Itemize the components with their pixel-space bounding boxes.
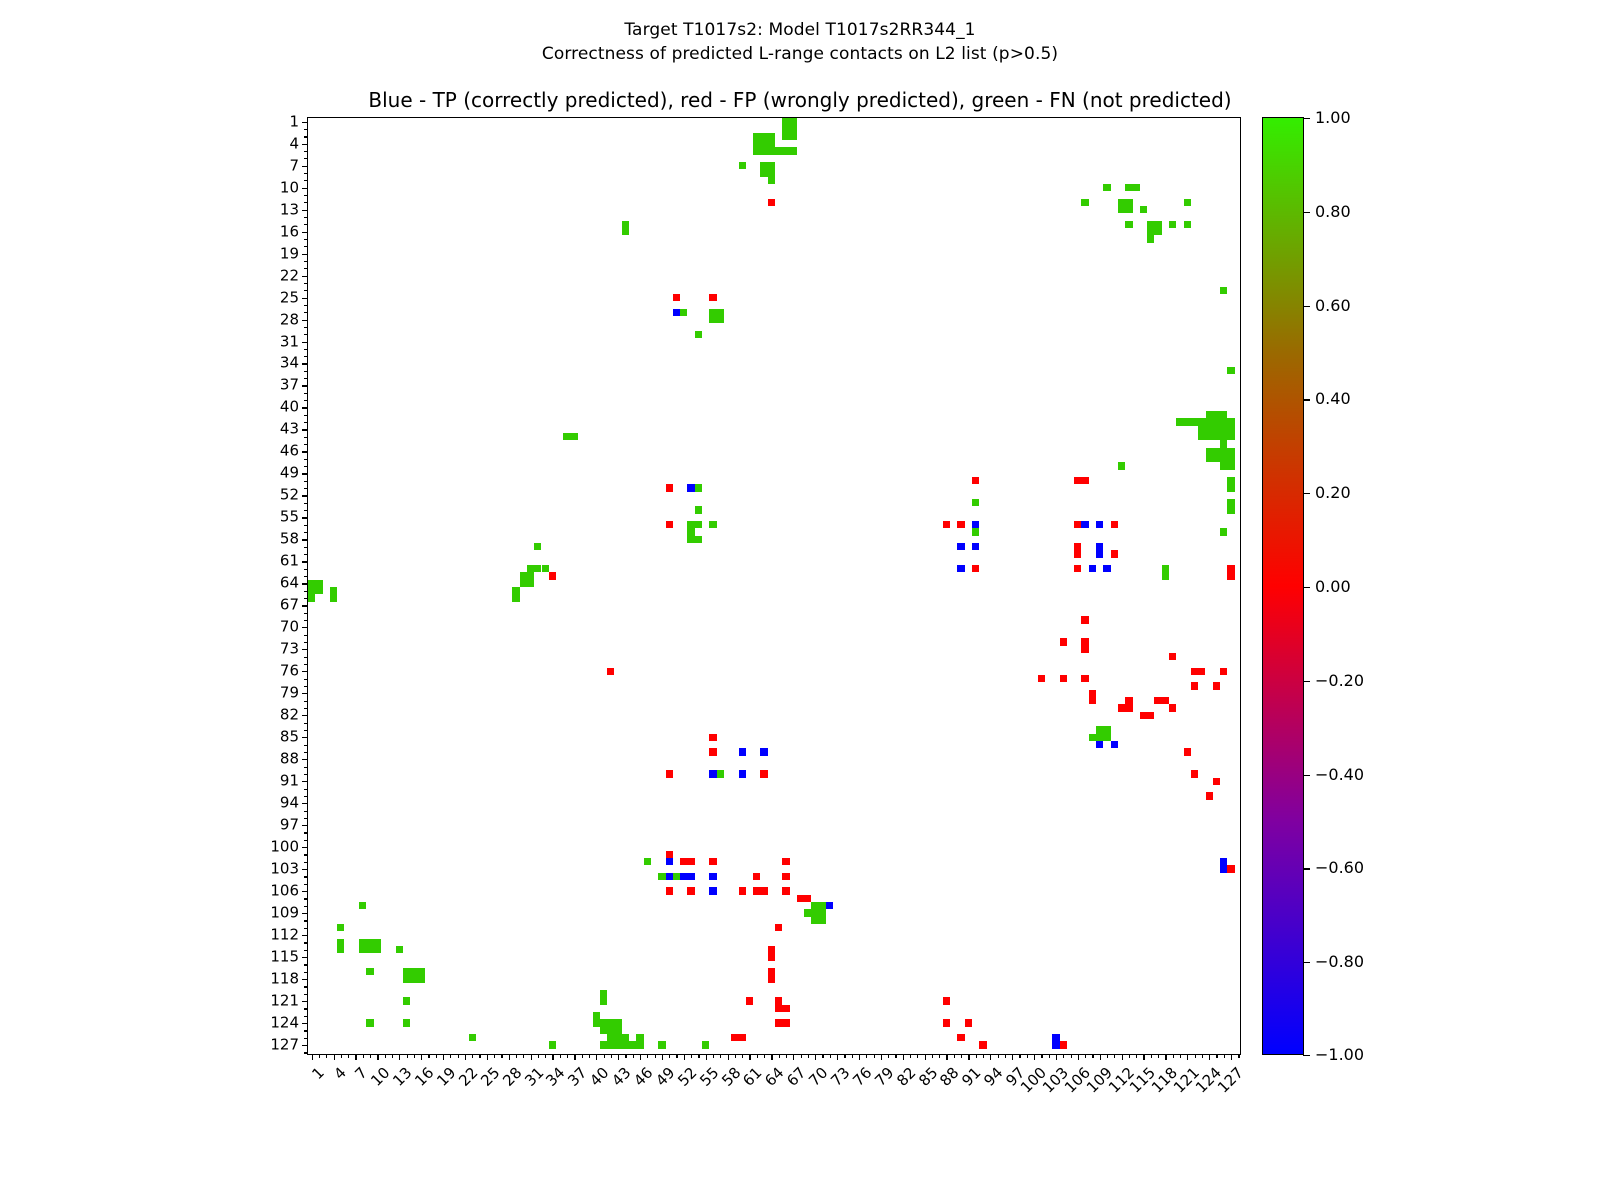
- colorbar-tick-label: 0.60: [1315, 298, 1351, 314]
- contact-cell: [1089, 690, 1096, 705]
- contact-cell: [753, 147, 797, 154]
- x-axis-tick: [1202, 1054, 1203, 1058]
- x-axis-tick: [487, 1054, 488, 1060]
- contact-cell: [709, 294, 716, 301]
- x-axis-tick: [852, 1054, 853, 1058]
- y-axis-tick: [304, 173, 308, 174]
- x-axis-tick: [735, 1054, 736, 1058]
- x-axis-tick: [954, 1054, 955, 1058]
- contact-cell: [943, 1019, 950, 1026]
- x-axis-tick: [582, 1054, 583, 1058]
- x-axis-tick: [749, 1054, 750, 1060]
- contact-cell: [972, 543, 979, 550]
- y-axis-tick-label: 97: [280, 818, 299, 833]
- contact-cell: [1184, 748, 1191, 755]
- y-axis-tick: [304, 789, 308, 790]
- contact-cell: [1125, 697, 1132, 704]
- y-axis-tick: [304, 444, 308, 445]
- contact-cell: [658, 1041, 665, 1048]
- x-axis-tick: [1027, 1054, 1028, 1058]
- colorbar-tick: [1303, 962, 1310, 963]
- contact-cell: [1191, 668, 1206, 675]
- x-axis-tick: [1114, 1054, 1115, 1058]
- y-axis-tick: [302, 627, 308, 628]
- y-axis-tick-label: 43: [280, 422, 299, 437]
- contact-cell: [782, 858, 789, 865]
- contact-cell: [1060, 675, 1067, 682]
- x-axis-tick: [822, 1054, 823, 1058]
- y-axis-tick: [304, 972, 308, 973]
- x-axis-tick: [844, 1054, 845, 1058]
- x-axis-tick: [1216, 1054, 1217, 1058]
- colorbar-tick: [1303, 399, 1310, 400]
- y-axis-tick: [304, 686, 308, 687]
- y-axis-tick-label: 76: [280, 664, 299, 679]
- contact-cell: [1089, 565, 1096, 572]
- contact-cell: [709, 734, 716, 741]
- x-axis-tick: [1107, 1054, 1108, 1058]
- contact-cell: [1074, 521, 1081, 528]
- y-axis-tick: [302, 737, 308, 738]
- contact-cell: [709, 873, 716, 880]
- x-axis-tick: [859, 1054, 860, 1060]
- contact-cell: [782, 887, 789, 894]
- colorbar-tick: [1303, 493, 1310, 494]
- colorbar-tick: [1303, 306, 1310, 307]
- contact-cell: [768, 946, 775, 961]
- contact-cell: [1081, 616, 1088, 623]
- y-axis-tick-label: 109: [270, 906, 299, 921]
- contact-cell: [979, 1041, 986, 1048]
- contact-cell: [709, 748, 716, 755]
- contact-cell: [695, 331, 702, 338]
- x-axis-tick: [604, 1054, 605, 1058]
- contact-cell: [753, 133, 775, 148]
- contact-cell: [957, 521, 964, 528]
- colorbar-tick-label: 0.40: [1315, 391, 1351, 407]
- y-axis-tick-label: 127: [270, 1038, 299, 1053]
- y-axis-tick: [304, 195, 308, 196]
- contact-cell: [680, 858, 695, 865]
- x-axis-tick: [786, 1054, 787, 1058]
- x-axis-tick: [881, 1054, 882, 1060]
- contact-cell: [768, 199, 775, 206]
- x-axis-tick: [662, 1054, 663, 1060]
- y-axis-tick: [302, 407, 308, 408]
- y-axis-tick: [302, 935, 308, 936]
- contact-cell: [1227, 565, 1234, 580]
- x-axis-tick: [808, 1054, 809, 1058]
- contact-cell: [804, 909, 826, 916]
- contact-cell: [666, 887, 673, 894]
- x-axis-tick: [983, 1054, 984, 1058]
- contact-cell: [811, 917, 826, 924]
- x-axis-tick: [917, 1054, 918, 1058]
- x-axis-tick: [1100, 1054, 1101, 1060]
- contact-cell: [366, 1019, 373, 1026]
- y-axis-tick: [304, 620, 308, 621]
- contact-cell: [1081, 675, 1088, 682]
- y-axis-tick: [304, 158, 308, 159]
- y-axis-tick-label: 118: [270, 972, 299, 987]
- contact-cell: [1081, 638, 1088, 653]
- x-axis-tick: [1078, 1054, 1079, 1060]
- x-axis-tick: [946, 1054, 947, 1060]
- contact-cell: [1184, 199, 1191, 206]
- x-axis-tick: [450, 1054, 451, 1058]
- contact-cell: [666, 851, 673, 858]
- y-axis-tick-label: 112: [270, 928, 299, 943]
- x-axis-tick: [669, 1054, 670, 1058]
- y-axis-tick: [304, 854, 308, 855]
- contact-cell: [1096, 543, 1103, 558]
- y-axis-tick: [302, 210, 308, 211]
- x-axis-tick: [1151, 1054, 1152, 1058]
- y-axis-tick: [304, 1052, 308, 1053]
- contact-cell: [687, 521, 702, 528]
- contact-cell: [943, 521, 950, 528]
- contact-cell: [943, 997, 950, 1004]
- y-axis-tick-label: 25: [280, 290, 299, 305]
- y-axis-tick: [304, 1030, 308, 1031]
- y-axis-tick: [304, 290, 308, 291]
- y-axis-tick: [304, 708, 308, 709]
- contact-cell: [695, 484, 702, 491]
- x-axis-tick: [334, 1054, 335, 1060]
- y-axis-tick: [302, 781, 308, 782]
- contact-cell: [1060, 638, 1067, 645]
- contact-cell: [1118, 462, 1125, 469]
- y-axis-tick: [304, 466, 308, 467]
- chart-title-line2: Correctness of predicted L-range contact…: [0, 42, 1600, 66]
- contact-cell: [469, 1034, 476, 1041]
- contact-cell: [972, 528, 979, 535]
- x-axis-tick: [523, 1054, 524, 1058]
- y-axis-tick: [304, 752, 308, 753]
- y-axis-tick: [302, 583, 308, 584]
- contact-cell: [739, 887, 746, 894]
- contact-cell: [797, 895, 812, 902]
- y-axis-tick: [304, 576, 308, 577]
- contact-cell: [702, 1041, 709, 1048]
- x-axis-tick: [1049, 1054, 1050, 1058]
- contact-cell: [760, 748, 767, 755]
- x-axis-tick: [1180, 1054, 1181, 1058]
- y-axis-tick: [304, 349, 308, 350]
- contact-cell: [768, 177, 775, 184]
- contact-cell: [1089, 734, 1096, 741]
- x-axis-tick: [1063, 1054, 1064, 1058]
- colorbar-tick-label: −0.20: [1315, 673, 1364, 689]
- contact-cell: [396, 946, 403, 953]
- contact-cell: [775, 1005, 790, 1012]
- y-axis-tick-label: 31: [280, 334, 299, 349]
- contact-cell: [1191, 682, 1198, 689]
- contact-cell: [717, 770, 724, 777]
- colorbar-tick: [1303, 868, 1310, 869]
- contact-cell: [775, 997, 782, 1004]
- contact-cell: [308, 594, 315, 601]
- contact-cell: [1038, 675, 1045, 682]
- contact-cell: [1169, 221, 1176, 228]
- contact-cell: [359, 902, 366, 909]
- x-axis-tick: [574, 1054, 575, 1060]
- colorbar-tick: [1303, 1055, 1310, 1056]
- contact-cell: [1125, 221, 1132, 228]
- y-axis-tick: [302, 298, 308, 299]
- contact-cell: [337, 924, 344, 931]
- contact-cell: [1213, 778, 1220, 785]
- contact-cell: [1220, 668, 1227, 675]
- x-axis-tick: [516, 1054, 517, 1058]
- colorbar-tick: [1303, 681, 1310, 682]
- y-axis-tick: [302, 232, 308, 233]
- y-axis-tick-label: 13: [280, 202, 299, 217]
- y-axis-tick-label: 115: [270, 950, 299, 965]
- x-axis-tick: [771, 1054, 772, 1060]
- contact-cell: [957, 1034, 964, 1041]
- y-axis-tick: [304, 283, 308, 284]
- y-axis-tick: [304, 239, 308, 240]
- y-axis-tick-label: 85: [280, 730, 299, 745]
- y-axis-tick: [304, 964, 308, 965]
- y-axis-tick: [302, 759, 308, 760]
- y-axis-tick: [304, 811, 308, 812]
- y-axis-tick: [304, 1016, 308, 1017]
- contact-cell: [826, 902, 833, 909]
- contact-cell: [753, 887, 768, 894]
- x-axis-tick: [501, 1054, 502, 1058]
- y-axis-tick: [304, 268, 308, 269]
- y-axis-tick: [304, 129, 308, 130]
- x-axis-tick: [1129, 1054, 1130, 1058]
- contact-cell: [666, 858, 673, 865]
- x-axis-tick: [596, 1054, 597, 1060]
- contact-cell: [972, 477, 979, 484]
- y-axis-tick: [304, 510, 308, 511]
- x-axis-tick: [961, 1054, 962, 1058]
- contact-cell: [1074, 543, 1081, 558]
- y-axis-tick: [302, 451, 308, 452]
- contact-cell: [1191, 770, 1198, 777]
- y-axis-tick-label: 124: [270, 1016, 299, 1031]
- x-axis-tick: [779, 1054, 780, 1058]
- contact-cell: [1184, 221, 1191, 228]
- y-axis-tick: [304, 664, 308, 665]
- x-axis-tick: [567, 1054, 568, 1058]
- contact-cell: [403, 1019, 410, 1026]
- x-axis-tick: [421, 1054, 422, 1060]
- contact-cell: [957, 565, 964, 572]
- contact-cell: [709, 858, 716, 865]
- y-axis-tick: [302, 803, 308, 804]
- y-axis-tick: [304, 415, 308, 416]
- y-axis-tick: [304, 261, 308, 262]
- contact-cell: [1220, 462, 1235, 469]
- y-axis-tick: [304, 898, 308, 899]
- x-axis-tick: [348, 1054, 349, 1058]
- x-axis-tick: [633, 1054, 634, 1058]
- colorbar-tick: [1303, 775, 1310, 776]
- contact-cell: [1220, 287, 1227, 294]
- x-axis-tick-label: 7: [353, 1065, 370, 1082]
- contact-cell: [673, 309, 680, 316]
- contact-cell: [1111, 741, 1118, 748]
- x-axis-tick: [545, 1054, 546, 1058]
- y-axis-tick-label: 58: [280, 532, 299, 547]
- y-axis-tick: [302, 561, 308, 562]
- x-axis-tick: [1056, 1054, 1057, 1060]
- contact-cell: [687, 528, 694, 535]
- y-axis-tick-label: 4: [289, 136, 299, 151]
- contact-cell: [1096, 521, 1103, 528]
- contact-cell: [673, 873, 680, 880]
- contact-cell: [359, 939, 381, 954]
- x-axis-tick-label: 127: [1215, 1065, 1246, 1096]
- x-axis-tick: [1071, 1054, 1072, 1058]
- x-axis-tick: [1122, 1054, 1123, 1060]
- contact-cell: [512, 587, 519, 602]
- contact-cell: [658, 873, 665, 880]
- y-axis-tick: [302, 385, 308, 386]
- colorbar-tick-label: −1.00: [1315, 1047, 1364, 1063]
- contact-map-cells: [308, 118, 1240, 1054]
- y-axis-tick: [302, 473, 308, 474]
- x-axis-tick: [1238, 1054, 1239, 1058]
- contact-cell: [1227, 499, 1234, 514]
- contact-cell: [308, 580, 323, 595]
- x-axis-tick: [443, 1054, 444, 1060]
- contact-cell: [811, 902, 826, 909]
- contact-cell: [972, 521, 979, 528]
- x-axis-tick: [319, 1054, 320, 1058]
- x-axis-tick: [479, 1054, 480, 1058]
- contact-cell: [534, 543, 541, 550]
- contact-cell: [1103, 184, 1110, 191]
- y-axis-tick: [304, 862, 308, 863]
- chart-title-line1: Target T1017s2: Model T1017s2RR344_1: [0, 18, 1600, 42]
- x-axis-tick: [815, 1054, 816, 1060]
- x-axis-tick: [326, 1054, 327, 1058]
- colorbar-tick-label: −0.40: [1315, 767, 1364, 783]
- y-axis-tick: [304, 312, 308, 313]
- x-axis-tick: [1041, 1054, 1042, 1058]
- y-axis-tick-label: 7: [289, 158, 299, 173]
- x-axis-tick: [399, 1054, 400, 1060]
- contact-cell: [739, 162, 746, 169]
- contact-cell: [1162, 565, 1169, 580]
- y-axis-tick: [304, 642, 308, 643]
- y-axis-tick: [304, 942, 308, 943]
- y-axis-tick-label: 19: [280, 246, 299, 261]
- contact-cell: [753, 873, 760, 880]
- y-axis-tick-label: 91: [280, 774, 299, 789]
- y-axis-tick: [304, 1038, 308, 1039]
- y-axis-tick: [302, 649, 308, 650]
- y-axis-tick: [304, 459, 308, 460]
- contact-cell: [403, 997, 410, 1004]
- contact-cell: [636, 1034, 643, 1041]
- colorbar-tick-label: −0.60: [1315, 860, 1364, 876]
- x-axis-tick: [1092, 1054, 1093, 1058]
- x-axis-tick: [414, 1054, 415, 1058]
- colorbar: 1.000.800.600.400.200.00−0.20−0.40−0.60−…: [1262, 117, 1304, 1055]
- contact-cell: [709, 309, 724, 324]
- x-axis-tick: [1136, 1054, 1137, 1058]
- y-axis-tick: [304, 224, 308, 225]
- x-axis-tick: [720, 1054, 721, 1058]
- y-axis-tick: [304, 334, 308, 335]
- y-axis-tick: [304, 701, 308, 702]
- contact-cell: [549, 1041, 556, 1048]
- y-axis-tick: [304, 950, 308, 951]
- y-axis-tick-label: 52: [280, 488, 299, 503]
- contact-cell: [1111, 550, 1118, 557]
- x-axis-tick: [560, 1054, 561, 1058]
- y-axis-tick-label: 49: [280, 466, 299, 481]
- contact-cell: [330, 587, 337, 602]
- contact-cell: [782, 873, 789, 880]
- x-axis-tick: [625, 1054, 626, 1058]
- x-axis-tick: [509, 1054, 510, 1060]
- y-axis-tick-label: 34: [280, 356, 299, 371]
- y-axis-tick: [304, 400, 308, 401]
- y-axis-tick-label: 10: [280, 180, 299, 195]
- x-axis-tick: [830, 1054, 831, 1058]
- y-axis-tick: [304, 745, 308, 746]
- y-axis-tick-label: 73: [280, 642, 299, 657]
- y-axis-tick-label: 79: [280, 686, 299, 701]
- contact-cell: [520, 572, 535, 587]
- contact-cell: [607, 1034, 629, 1041]
- y-axis-tick: [302, 847, 308, 848]
- x-axis-tick: [1195, 1054, 1196, 1058]
- y-axis-tick: [304, 393, 308, 394]
- y-axis-tick: [304, 657, 308, 658]
- y-axis-tick: [304, 986, 308, 987]
- y-axis-tick: [304, 818, 308, 819]
- y-axis-tick: [304, 569, 308, 570]
- x-axis-tick: [1173, 1054, 1174, 1058]
- contact-cell: [739, 748, 746, 755]
- x-axis-tick: [676, 1054, 677, 1058]
- x-axis-tick: [925, 1054, 926, 1060]
- y-axis-tick: [304, 356, 308, 357]
- contact-cell: [666, 770, 673, 777]
- y-axis-tick-label: 64: [280, 576, 299, 591]
- y-axis-tick-label: 106: [270, 884, 299, 899]
- contact-cell: [622, 221, 629, 236]
- contact-cell: [666, 521, 673, 528]
- y-axis-tick: [302, 891, 308, 892]
- y-axis-tick: [304, 767, 308, 768]
- y-axis-tick-label: 28: [280, 312, 299, 327]
- x-axis-tick: [903, 1054, 904, 1060]
- contact-cell: [775, 924, 782, 931]
- y-axis-tick: [302, 144, 308, 145]
- y-axis-tick: [302, 254, 308, 255]
- y-axis-tick-label: 16: [280, 224, 299, 239]
- contact-cell: [768, 968, 775, 983]
- x-axis-tick: [531, 1054, 532, 1060]
- x-axis-tick: [436, 1054, 437, 1058]
- x-axis-tick: [363, 1054, 364, 1058]
- contact-cell: [1096, 726, 1111, 741]
- x-axis-tick: [472, 1054, 473, 1058]
- y-axis-tick: [302, 276, 308, 277]
- x-axis-tick: [1019, 1054, 1020, 1058]
- y-axis-tick: [302, 166, 308, 167]
